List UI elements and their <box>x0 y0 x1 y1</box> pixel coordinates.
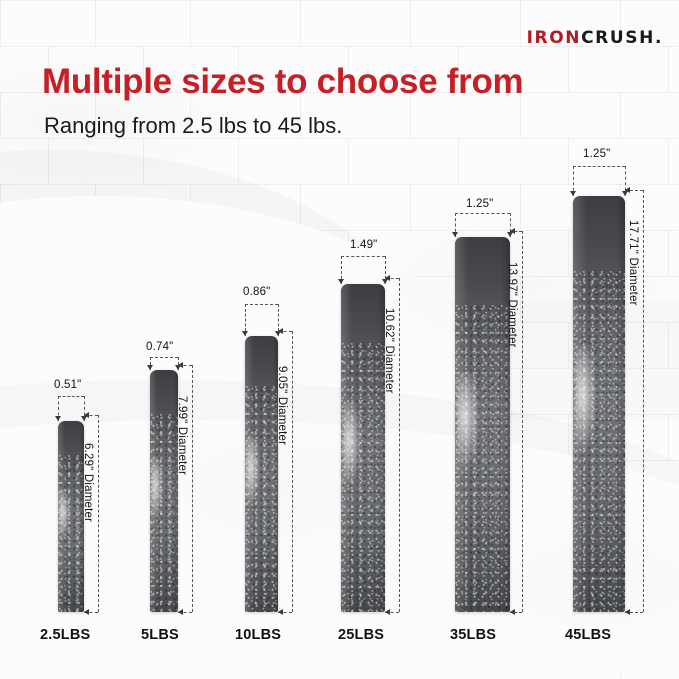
weight-category-label: 25LBS <box>338 627 384 643</box>
diameter-arrow-top <box>510 228 515 234</box>
diameter-arrow-top <box>178 362 183 368</box>
width-label: 1.25" <box>466 198 493 210</box>
diameter-arrow-bottom <box>84 609 89 615</box>
diameter-dimension-line <box>292 331 293 612</box>
infographic-canvas: IRONCRUSH. Multiple sizes to choose from… <box>0 0 679 679</box>
diameter-dimension-line <box>192 365 193 612</box>
diameter-arrow-bottom <box>278 609 283 615</box>
weight-bar <box>573 196 625 612</box>
bar-edge-shadow <box>617 196 625 612</box>
diameter-dimension-line <box>522 231 523 612</box>
width-arrow-left <box>338 279 344 284</box>
diameter-arrow-bottom <box>510 609 515 615</box>
diameter-label: 7.99" Diameter <box>176 396 188 475</box>
diameter-label: 6.29" Diameter <box>82 443 94 522</box>
weight-bar <box>58 421 84 612</box>
width-label: 0.74" <box>146 341 173 353</box>
width-label: 1.25" <box>583 148 610 160</box>
width-label: 0.86" <box>243 286 270 298</box>
width-arrow-left <box>242 331 248 336</box>
diameter-arrow-top <box>278 328 283 334</box>
diameter-label: 13.97" Diameter <box>506 262 518 348</box>
diameter-dimension-line <box>98 415 99 612</box>
diameter-dimension-line <box>399 278 400 612</box>
diameter-arrow-bottom <box>385 609 390 615</box>
diameter-arrow-top <box>84 412 89 418</box>
width-bracket-top <box>573 166 625 167</box>
bar-sheen <box>245 336 254 612</box>
weight-bar <box>150 370 178 612</box>
weight-category-label: 10LBS <box>235 627 281 643</box>
diameter-arrow-top <box>625 187 630 193</box>
weight-bar <box>455 237 510 612</box>
diameter-arrow-top <box>385 275 390 281</box>
bar-sheen <box>58 421 65 612</box>
weight-category-label: 35LBS <box>450 627 496 643</box>
width-bracket-top <box>150 357 178 358</box>
diameter-label: 17.71" Diameter <box>627 220 639 306</box>
width-arrow-left <box>452 232 458 237</box>
weight-category-label: 5LBS <box>141 627 179 643</box>
diameter-dimension-line <box>643 190 644 612</box>
weight-category-label: 2.5LBS <box>40 627 90 643</box>
size-comparison-chart: 0.51"6.29" Diameter0.74"7.99" Diameter0.… <box>0 0 679 679</box>
width-bracket-top <box>58 396 84 397</box>
width-label: 0.51" <box>54 379 81 391</box>
diameter-arrow-bottom <box>178 609 183 615</box>
weight-bar <box>341 284 385 612</box>
width-bracket-top <box>245 304 278 305</box>
bar-sheen <box>341 284 352 612</box>
weight-bar <box>245 336 278 612</box>
width-label: 1.49" <box>350 239 377 251</box>
diameter-label: 10.62" Diameter <box>383 308 395 394</box>
diameter-arrow-bottom <box>625 609 630 615</box>
width-bracket-top <box>455 213 510 214</box>
weight-category-label: 45LBS <box>565 627 611 643</box>
width-arrow-left <box>147 365 153 370</box>
bar-sheen <box>150 370 157 612</box>
width-bracket-top <box>341 256 385 257</box>
bar-sheen <box>455 237 469 612</box>
bar-sheen <box>573 196 587 612</box>
width-arrow-left <box>570 191 576 196</box>
width-arrow-left <box>55 416 61 421</box>
diameter-label: 9.05" Diameter <box>276 366 288 445</box>
